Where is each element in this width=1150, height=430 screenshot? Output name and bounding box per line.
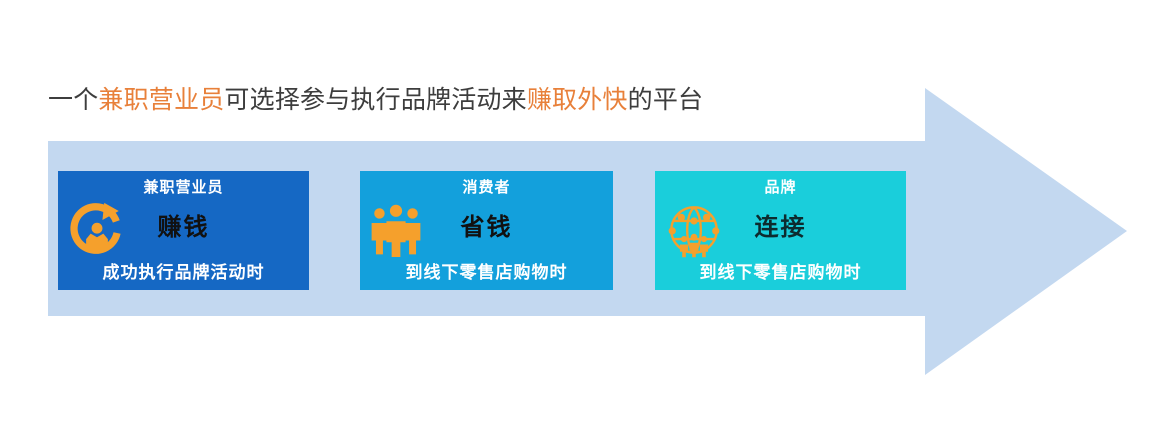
infographic-canvas: 一个兼职营业员可选择参与执行品牌活动来赚取外快的平台 兼职营业员 赚钱 成功执行…	[0, 0, 1150, 430]
card-part-time-clerk[interactable]: 兼职营业员 赚钱 成功执行品牌活动时	[58, 171, 309, 290]
card-footer-label: 成功执行品牌活动时	[58, 262, 309, 284]
card-title: 品牌	[655, 178, 906, 198]
card-title: 兼职营业员	[58, 178, 309, 198]
headline-segment-5: 的平台	[628, 87, 704, 114]
card-main-label: 连接	[655, 213, 906, 243]
headline-segment-4-highlight: 赚取外快	[527, 87, 628, 114]
card-footer-label: 到线下零售店购物时	[360, 262, 613, 284]
page-title: 一个兼职营业员可选择参与执行品牌活动来赚取外快的平台	[48, 84, 703, 118]
card-main-label: 赚钱	[58, 213, 309, 243]
card-title: 消费者	[360, 178, 613, 198]
headline-segment-3: 可选择参与执行品牌活动来	[224, 87, 526, 114]
headline-segment-2-highlight: 兼职营业员	[98, 87, 224, 114]
card-footer-label: 到线下零售店购物时	[655, 262, 906, 284]
card-consumer[interactable]: 消费者 省钱 到线下零售店购物时	[360, 171, 613, 290]
card-brand[interactable]: 品牌 连接	[655, 171, 906, 290]
headline-segment-1: 一个	[48, 87, 98, 114]
card-main-label: 省钱	[360, 213, 613, 243]
